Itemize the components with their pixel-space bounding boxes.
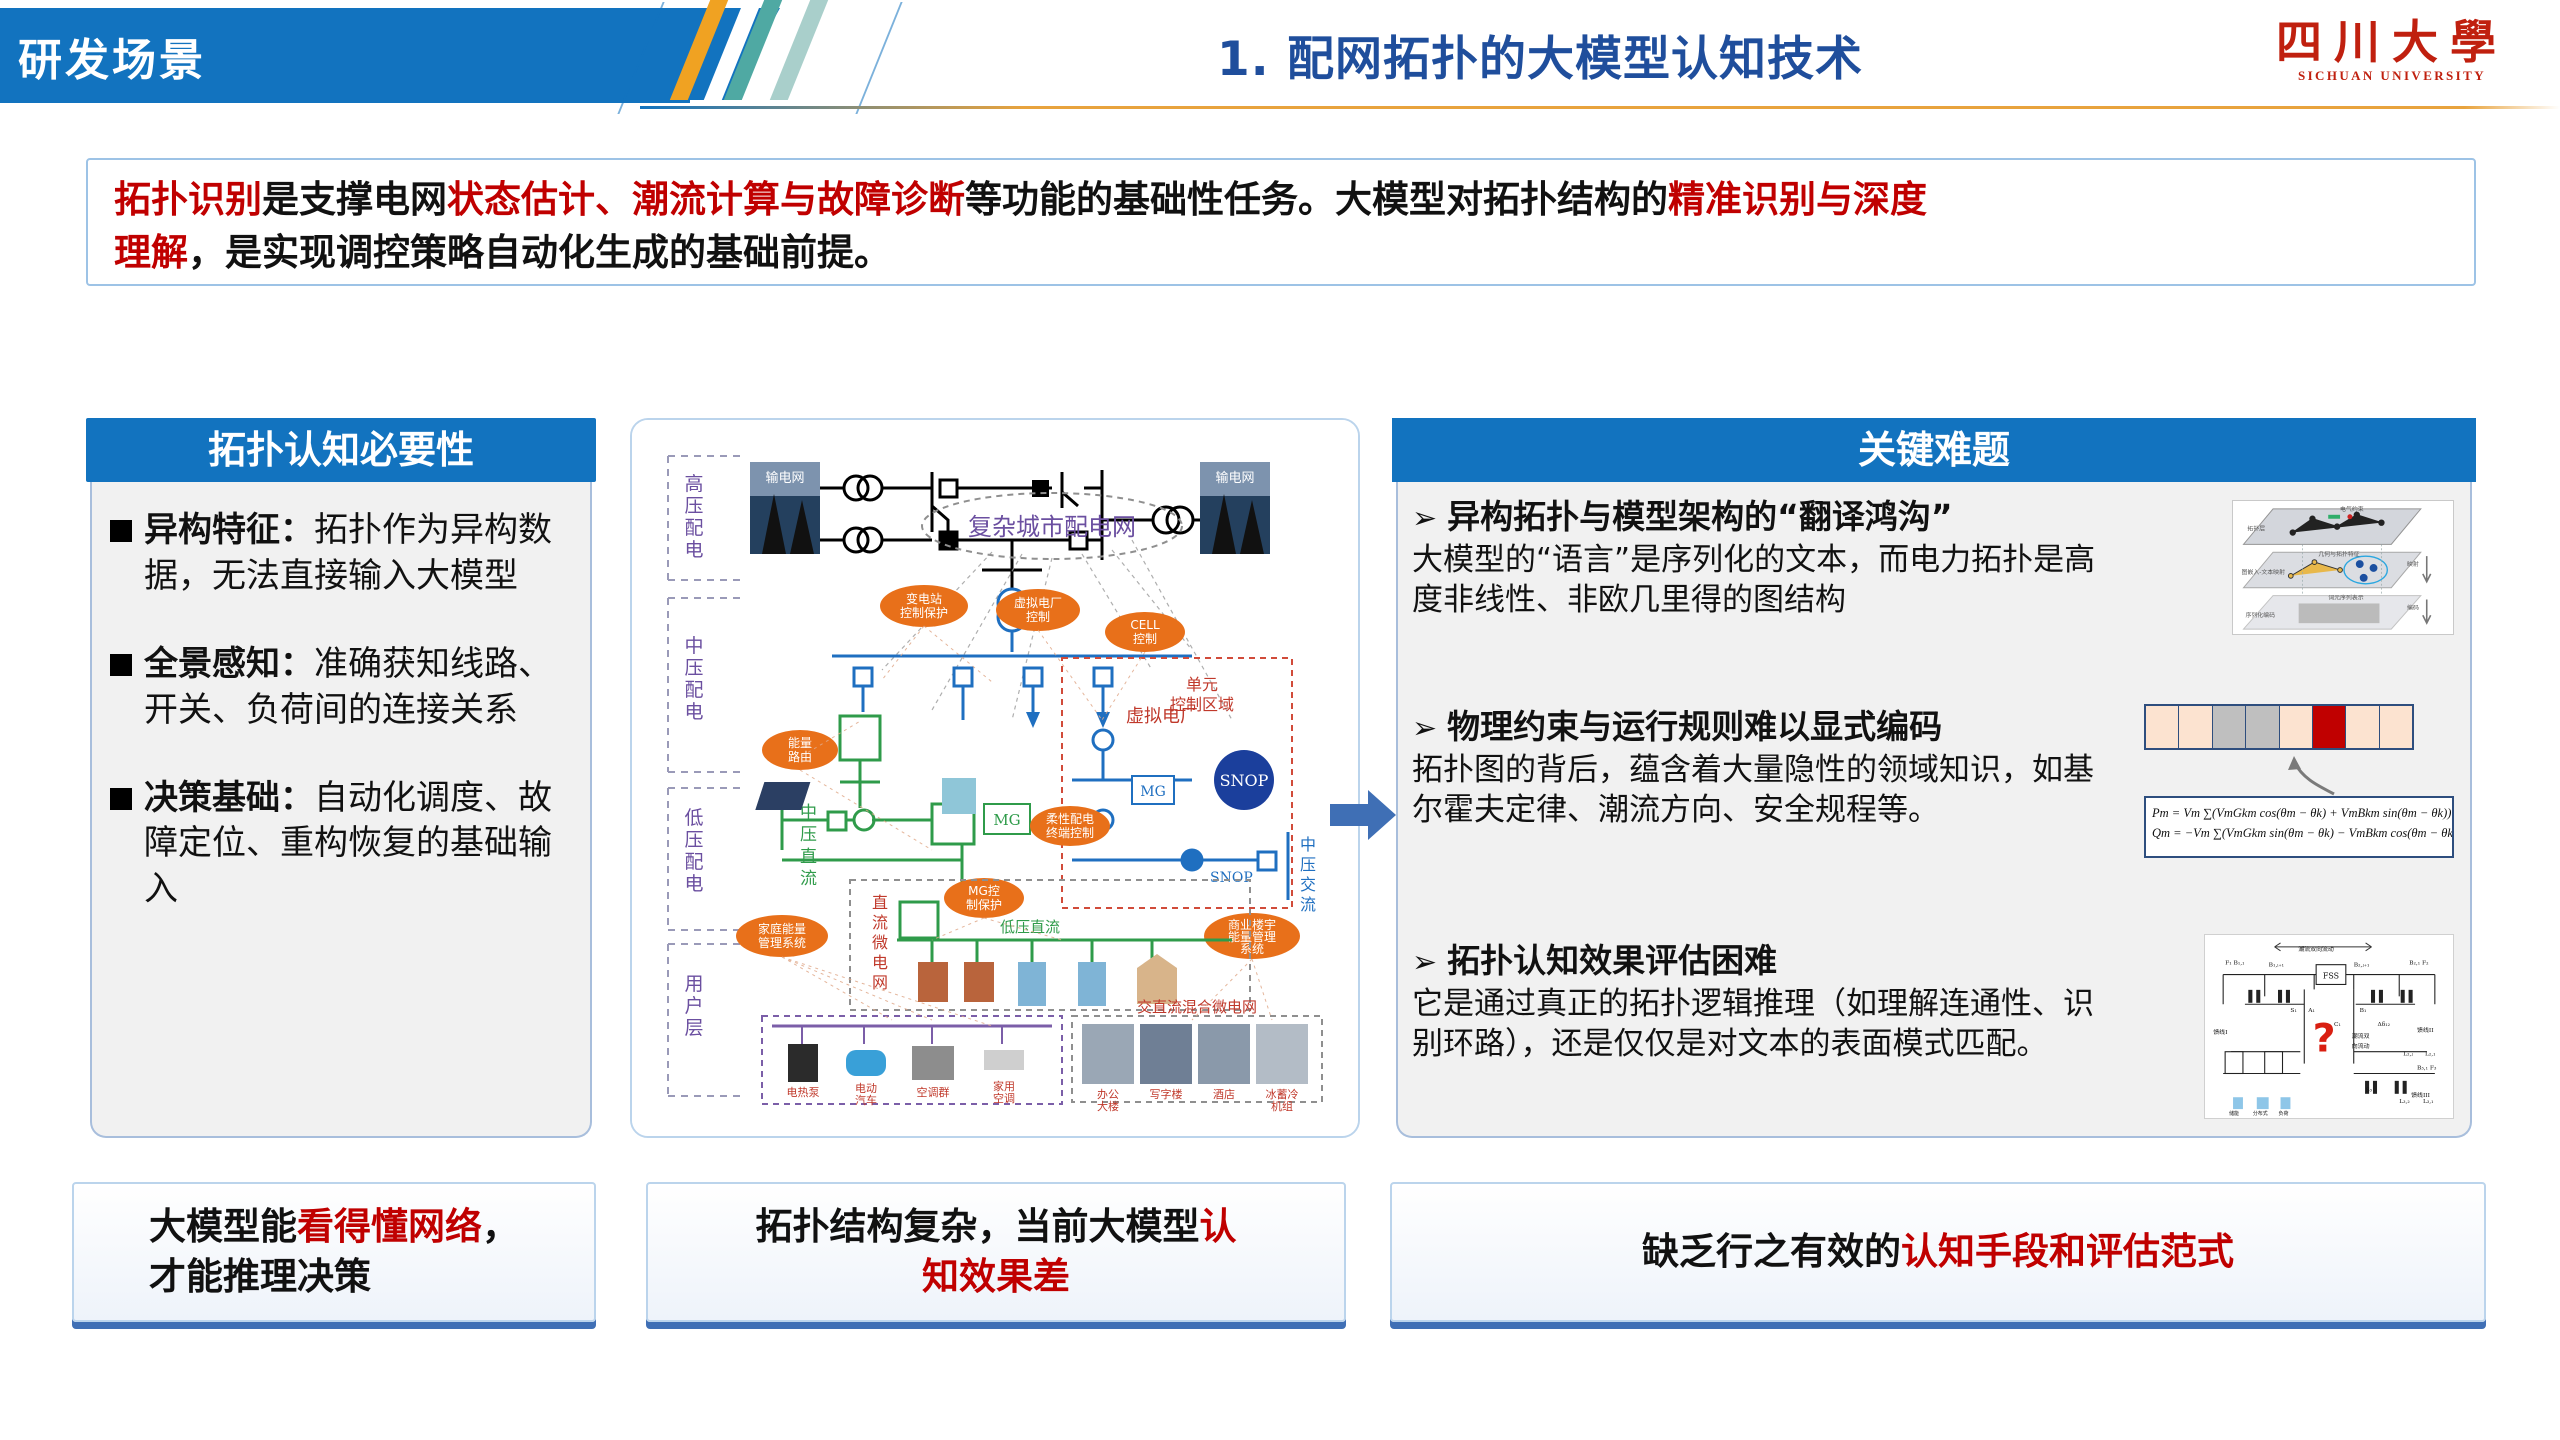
- svg-text:电: 电: [684, 701, 703, 723]
- svg-text:潮流双: 潮流双: [2352, 1032, 2370, 1040]
- svg-text:空调: 空调: [993, 1091, 1015, 1105]
- bullet-sep: ：: [280, 510, 314, 550]
- transmission-grid-image-left: 输电网: [750, 462, 820, 554]
- layer-label-user: 用: [684, 973, 703, 995]
- key-challenge-item-1: ➢异构拓扑与模型架构的“翻译鸿沟” 大模型的“语言”是序列化的文本，而电力拓扑是…: [1412, 496, 2454, 696]
- embed-cell-7: [2346, 706, 2379, 748]
- arrow-bullet-icon: ➢: [1412, 501, 1437, 536]
- slide-root: 研发场景 1. 配网拓扑的大模型认知技术 四川大學 SICHUAN UNIVER…: [0, 0, 2560, 1440]
- layered-graph-figure: 拓扑层 图嵌入-文本映射 序列化编码 映射 编码 电气约束 几何与拓扑特征 词元…: [2232, 500, 2454, 640]
- svg-text:汽车: 汽车: [855, 1093, 877, 1107]
- flow-arrow-icon: [1330, 790, 1396, 840]
- svg-text:压: 压: [684, 657, 703, 679]
- svg-text:F₁ B₁,₁: F₁ B₁,₁: [2225, 960, 2244, 967]
- list-item: 全景感知：准确获知线路、开关、负荷间的连接关系: [110, 642, 570, 734]
- circuit-question-figure: FSS F₁ B₁,₁B₁,ᵢ₊₁ B₂,ⱼ₊₁B₂,₁ F₂ S₁A₁B₁ C…: [2204, 934, 2454, 1124]
- svg-text:电气约束: 电气约束: [2340, 505, 2364, 513]
- distribution-network-diagram-card: 高 压配电 中 压配电 低 压配电 用 户层 输电网 输电网: [630, 418, 1360, 1138]
- conclusion-box-3-text: 缺乏行之有效的认知手段和评估范式: [1622, 1227, 2254, 1277]
- svg-text:A₁: A₁: [2307, 1007, 2315, 1014]
- svg-text:系统: 系统: [1240, 942, 1264, 956]
- svg-text:流: 流: [1300, 895, 1316, 914]
- embed-cell-1: [2146, 706, 2179, 748]
- bullet-label: 决策基础: [144, 778, 280, 818]
- svg-text:电: 电: [684, 539, 703, 561]
- fb1-b: 看得懂网络: [297, 1205, 482, 1248]
- svg-text:电: 电: [684, 873, 703, 895]
- distribution-network-diagram: 高 压配电 中 压配电 低 压配电 用 户层 输电网 输电网: [632, 420, 1358, 1136]
- snop-label-2: SNOP: [1210, 870, 1253, 886]
- challenge-3-title: ➢拓扑认知效果评估困难: [1412, 940, 2122, 983]
- svg-text:终端控制: 终端控制: [1046, 825, 1094, 840]
- wind-turbine-icon: [942, 778, 976, 814]
- challenge-1-desc: 大模型的“语言”是序列化的文本，而电力拓扑是高度非线性、非欧几里得的图结构: [1412, 541, 2122, 620]
- svg-text:L₃,₂: L₃,₂: [2399, 1098, 2410, 1105]
- university-logo: 四川大學 SICHUAN UNIVERSITY: [2242, 6, 2542, 92]
- square-bullet-icon: [110, 520, 132, 542]
- svg-text:网: 网: [872, 973, 888, 992]
- logo-chinese-name: 四川大學: [2242, 6, 2542, 72]
- square-bullet-icon: [110, 788, 132, 810]
- svg-text:层: 层: [684, 1017, 703, 1039]
- svg-text:SNOP: SNOP: [1220, 771, 1269, 790]
- svg-text:L₂,ⱼ: L₂,ⱼ: [2403, 1051, 2413, 1058]
- cloud-label: 复杂城市配电网: [968, 513, 1136, 541]
- challenge-1-title: ➢异构拓扑与模型架构的“翻译鸿沟”: [1412, 496, 2122, 539]
- embed-cell-4: [2246, 706, 2279, 748]
- svg-text:制保护: 制保护: [966, 898, 1002, 912]
- svg-text:配: 配: [684, 517, 703, 539]
- right-panel: 关键难题 ➢异构拓扑与模型架构的“翻译鸿沟” 大模型的“语言”是序列化的文本，而…: [1392, 418, 2476, 1138]
- svg-text:拓扑层: 拓扑层: [2247, 525, 2265, 533]
- conclusion-box-1: 大模型能看得懂网络， 才能推理决策: [72, 1182, 596, 1322]
- right-panel-title: 关键难题: [1392, 418, 2476, 482]
- svg-text:配: 配: [684, 679, 703, 701]
- fb3-b: 认知手段和评估范式: [1901, 1230, 2234, 1273]
- slide-header: 研发场景 1. 配网拓扑的大模型认知技术 四川大學 SICHUAN UNIVER…: [0, 0, 2560, 118]
- svg-text:向流动: 向流动: [2352, 1042, 2370, 1050]
- svg-text:控制: 控制: [1133, 632, 1157, 646]
- header-stripes-decoration: [660, 0, 860, 100]
- svg-text:B₁: B₁: [2360, 1007, 2367, 1014]
- svg-text:储能: 储能: [2229, 1110, 2239, 1117]
- svg-text:B₂,₁ F₂: B₂,₁ F₂: [2409, 960, 2428, 967]
- svg-text:B₂,ⱼ₊₁: B₂,ⱼ₊₁: [2354, 962, 2370, 969]
- ac-hybrid-label: 交直流混合微电网: [1137, 998, 1257, 1016]
- svg-text:MG: MG: [993, 811, 1020, 829]
- bullet-label: 异构特征: [144, 510, 280, 550]
- svg-text:酒店: 酒店: [1213, 1087, 1235, 1101]
- svg-text:大楼: 大楼: [1097, 1099, 1119, 1113]
- conclusion-box-3: 缺乏行之有效的认知手段和评估范式: [1390, 1182, 2486, 1322]
- svg-text:S₃: S₃: [2366, 1086, 2373, 1093]
- right-panel-body: ➢异构拓扑与模型架构的“翻译鸿沟” 大模型的“语言”是序列化的文本，而电力拓扑是…: [1396, 482, 2472, 1138]
- svg-text:电热泵: 电热泵: [787, 1086, 820, 1099]
- intro-callout-box: 拓扑识别是支撑电网状态估计、潮流计算与故障诊断等功能的基础性任务。大模型对拓扑结…: [86, 158, 2476, 286]
- intro-text-c: ，是实现调控策略自动化生成的基础前提。: [188, 231, 891, 274]
- svg-text:FSS: FSS: [2323, 972, 2339, 981]
- fb2-a: 拓扑结构复杂，当前大模型: [756, 1205, 1200, 1248]
- fb3-a: 缺乏行之有效的: [1642, 1230, 1901, 1273]
- bullet-label: 全景感知: [144, 644, 280, 684]
- vpp-label: 虚拟电厂: [1126, 706, 1198, 727]
- intro-kw-precise: 精准识别与深度: [1668, 178, 1927, 221]
- intro-text-b: 等功能的基础性任务。大模型对拓扑结构的: [965, 178, 1668, 221]
- challenge-2-title: ➢物理约束与运行规则难以显式编码: [1412, 706, 2122, 749]
- svg-text:潮流双向流动: 潮流双向流动: [2298, 945, 2334, 953]
- conclusion-box-2: 拓扑结构复杂，当前大模型认 知效果差: [646, 1182, 1346, 1322]
- challenge-3-desc: 它是通过真正的拓扑逻辑推理（如理解连通性、识别环路），还是仅仅是对文本的表面模式…: [1412, 985, 2122, 1064]
- intro-line-1: 拓扑识别是支撑电网状态估计、潮流计算与故障诊断等功能的基础性任务。大模型对拓扑结…: [114, 174, 2448, 227]
- svg-text:空调群: 空调群: [917, 1085, 950, 1099]
- intro-kw-topology-recognition: 拓扑识别: [114, 178, 262, 221]
- intro-text-a: 是支撑电网: [262, 178, 447, 221]
- svg-text:家用: 家用: [993, 1079, 1015, 1093]
- dc-microgrid-label: 直: [872, 893, 888, 912]
- scene-tag: 研发场景: [18, 24, 206, 88]
- left-panel-title: 拓扑认知必要性: [86, 418, 596, 482]
- svg-text:输电网: 输电网: [765, 470, 804, 486]
- challenge-3-text: ➢拓扑认知效果评估困难 它是通过真正的拓扑逻辑推理（如理解连通性、识别环路），还…: [1412, 940, 2122, 1064]
- svg-text:MG: MG: [1140, 784, 1166, 800]
- embed-cell-3: [2213, 706, 2246, 748]
- svg-text:馈线II: 馈线II: [2417, 1026, 2434, 1034]
- mv-ac-label: 中: [1300, 835, 1316, 854]
- arrow-bullet-icon: ➢: [1412, 711, 1437, 746]
- embedding-vector-figure: [2144, 704, 2414, 750]
- svg-text:控制保护: 控制保护: [900, 606, 948, 620]
- layer-label-lv: 低: [684, 807, 703, 829]
- svg-text:户: 户: [684, 995, 703, 1017]
- svg-text:S₁: S₁: [2290, 1007, 2296, 1014]
- svg-text:控制: 控制: [1026, 610, 1050, 624]
- svg-text:能量: 能量: [788, 736, 812, 750]
- svg-text:B₃,₁ F₃: B₃,₁ F₃: [2417, 1065, 2437, 1072]
- challenge-2-title-text: 物理约束与运行规则难以显式编码: [1447, 707, 1942, 746]
- pv-panel-icon: [755, 782, 810, 810]
- challenge-2-text: ➢物理约束与运行规则难以显式编码 拓扑图的背后，蕴含着大量隐性的领域知识，如基尔…: [1412, 706, 2122, 830]
- logo-english-name: SICHUAN UNIVERSITY: [2242, 68, 2542, 84]
- header-rule-left: [0, 100, 690, 103]
- svg-text:CELL: CELL: [1130, 618, 1160, 632]
- left-panel: 拓扑认知必要性 异构特征：拓扑作为异构数据，无法直接输入大模型 全景感知：准确获…: [86, 418, 596, 1138]
- formula-line-1: Pm = Vm ∑(VmGkm cos(θm − θk) + VmBkm sin…: [2152, 803, 2446, 823]
- svg-text:压: 压: [684, 829, 703, 851]
- svg-text:压: 压: [1300, 855, 1316, 874]
- bullet-text: 决策基础：自动化调度、故障定位、重构恢复的基础输入: [144, 776, 570, 914]
- fb1-a: 大模型能: [149, 1205, 297, 1248]
- embed-cell-8: [2380, 706, 2412, 748]
- intro-kw-understanding: 理解: [114, 231, 188, 274]
- intro-kw-functions: 状态估计、潮流计算与故障诊断: [447, 178, 965, 221]
- svg-text:变电站: 变电站: [906, 591, 942, 606]
- svg-text:L₂,₁: L₂,₁: [2425, 1051, 2436, 1058]
- svg-text:机组: 机组: [1271, 1099, 1293, 1113]
- transmission-grid-image-right: 输电网: [1200, 462, 1270, 554]
- svg-text:柔性配电: 柔性配电: [1046, 812, 1094, 826]
- challenge-3-title-text: 拓扑认知效果评估困难: [1447, 941, 1777, 980]
- breaker-open-icon: [940, 480, 957, 497]
- embed-cell-5: [2280, 706, 2313, 748]
- layer-label-hv: 高: [684, 473, 703, 495]
- svg-text:电: 电: [872, 953, 888, 972]
- svg-text:馈线III: 馈线III: [2411, 1091, 2431, 1099]
- list-item: 异构特征：拓扑作为异构数据，无法直接输入大模型: [110, 508, 570, 600]
- fb1-c: ，: [482, 1205, 519, 1248]
- svg-text:负荷: 负荷: [2279, 1110, 2289, 1117]
- lv-dc-label: 低压直流: [1000, 918, 1060, 936]
- svg-text:流: 流: [872, 913, 888, 932]
- svg-text:B₁,ᵢ₊₁: B₁,ᵢ₊₁: [2269, 962, 2284, 969]
- svg-text:直: 直: [800, 847, 817, 867]
- challenge-2-desc: 拓扑图的背后，蕴含着大量隐性的领域知识，如基尔霍夫定律、潮流方向、安全规程等。: [1412, 751, 2122, 830]
- embedding-and-formula-figure: Pm = Vm ∑(VmGkm cos(θm − θk) + VmBkm sin…: [2144, 704, 2454, 858]
- bullet-sep: ：: [280, 644, 314, 684]
- svg-text:输电网: 输电网: [1215, 470, 1254, 486]
- svg-text:MG控: MG控: [968, 884, 1000, 898]
- svg-text:写字楼: 写字楼: [1150, 1087, 1183, 1101]
- svg-text:词元序列表示: 词元序列表示: [2328, 594, 2364, 602]
- bullet-sep: ：: [280, 778, 314, 818]
- fb2-c: 知效果差: [922, 1255, 1070, 1298]
- svg-text:管理系统: 管理系统: [758, 935, 806, 950]
- svg-text:配: 配: [684, 851, 703, 873]
- svg-text:图嵌入-文本映射: 图嵌入-文本映射: [2242, 568, 2286, 576]
- question-mark-icon: ?: [2313, 1016, 2336, 1062]
- svg-text:压: 压: [800, 825, 817, 845]
- curved-pointer-icon: [2144, 750, 2414, 796]
- embed-cell-highlight: [2313, 706, 2346, 748]
- breaker-closed-icon-2: [1032, 480, 1049, 497]
- key-challenge-item-2: ➢物理约束与运行规则难以显式编码 拓扑图的背后，蕴含着大量隐性的领域知识，如基尔…: [1412, 706, 2454, 930]
- svg-text:映射: 映射: [2407, 560, 2419, 568]
- svg-text:微: 微: [872, 933, 888, 952]
- challenge-1-title-text: 异构拓扑与模型架构的“翻译鸿沟”: [1447, 497, 1952, 536]
- conclusion-box-2-text: 拓扑结构复杂，当前大模型认 知效果差: [736, 1202, 1257, 1301]
- power-flow-formula-box: Pm = Vm ∑(VmGkm cos(θm − θk) + VmBkm sin…: [2144, 796, 2454, 858]
- challenge-1-text: ➢异构拓扑与模型架构的“翻译鸿沟” 大模型的“语言”是序列化的文本，而电力拓扑是…: [1412, 496, 2122, 620]
- fb2-b: 认: [1200, 1205, 1237, 1248]
- bullet-text: 全景感知：准确获知线路、开关、负荷间的连接关系: [144, 642, 570, 734]
- bullet-text: 异构特征：拓扑作为异构数据，无法直接输入大模型: [144, 508, 570, 600]
- svg-text:Δδ₁₂: Δδ₁₂: [2377, 1021, 2390, 1028]
- svg-text:虚拟电厂: 虚拟电厂: [1014, 596, 1062, 610]
- svg-text:流: 流: [800, 869, 817, 889]
- layer-label-mv: 中: [684, 635, 703, 657]
- list-item: 决策基础：自动化调度、故障定位、重构恢复的基础输入: [110, 776, 570, 914]
- left-panel-body: 异构特征：拓扑作为异构数据，无法直接输入大模型 全景感知：准确获知线路、开关、负…: [90, 482, 592, 1138]
- unit-control-region-label: 单元: [1186, 675, 1218, 694]
- svg-text:序列化编码: 序列化编码: [2245, 611, 2275, 619]
- intro-line-2: 理解，是实现调控策略自动化生成的基础前提。: [114, 227, 2448, 280]
- square-bullet-icon: [110, 654, 132, 676]
- header-rule: [640, 106, 2560, 109]
- svg-text:家庭能量: 家庭能量: [758, 921, 806, 936]
- svg-text:交: 交: [1300, 875, 1316, 894]
- svg-text:压: 压: [684, 495, 703, 517]
- page-title: 1. 配网拓扑的大模型认知技术: [880, 20, 2200, 89]
- formula-line-2: Qm = −Vm ∑(VmGkm sin(θm − θk) − VmBkm co…: [2152, 823, 2446, 843]
- embed-cell-2: [2179, 706, 2212, 748]
- svg-text:分布式: 分布式: [2253, 1110, 2268, 1117]
- arrow-bullet-icon: ➢: [1412, 945, 1437, 980]
- svg-text:几何与拓扑特征: 几何与拓扑特征: [2318, 550, 2359, 558]
- fb1-d: 才能推理决策: [149, 1255, 371, 1298]
- svg-text:编码: 编码: [2407, 603, 2419, 611]
- svg-text:馈线I: 馈线I: [2213, 1028, 2228, 1036]
- key-challenge-item-3: ➢拓扑认知效果评估困难 它是通过真正的拓扑逻辑推理（如理解连通性、识别环路），还…: [1412, 940, 2454, 1140]
- svg-text:路由: 路由: [788, 749, 812, 764]
- conclusion-box-1-text: 大模型能看得懂网络， 才能推理决策: [129, 1202, 539, 1301]
